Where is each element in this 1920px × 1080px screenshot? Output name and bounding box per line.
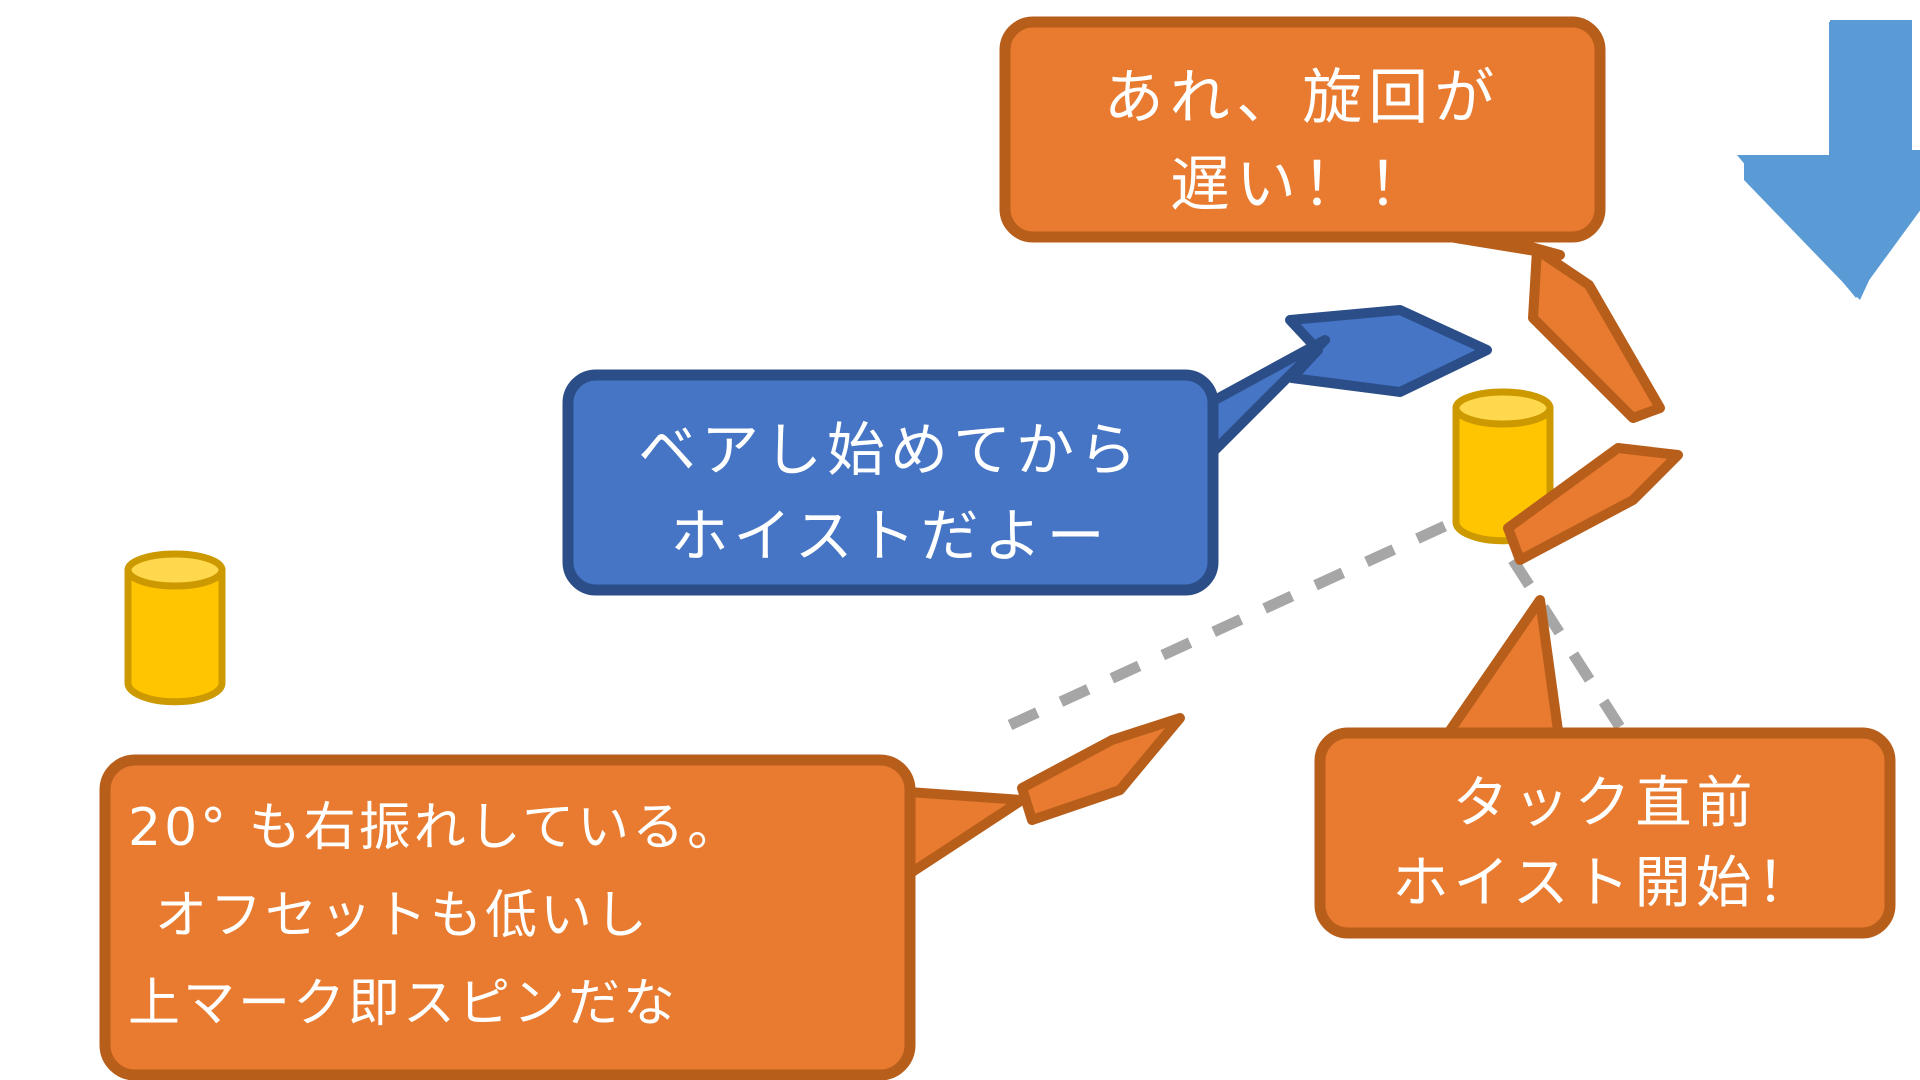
bubble-turn-slow-line-2: 遅い！！ [1170,150,1434,220]
wind-direction-arrow [1737,20,1920,300]
bubble-bear-hoist[interactable]: ベアし始めてから ホイストだよー [568,340,1325,590]
bubble-turn-slow[interactable]: あれ、旋回が 遅い！！ [1005,22,1600,255]
orange-boat-lower-left [1022,718,1180,820]
bubble-turn-slow-line-1: あれ、旋回が [1104,63,1501,133]
bubble-right-swing-line-1: 20° も右振れしている。 [128,798,742,858]
bubble-tack-hoist-line-2: ホイスト開始！ [1392,851,1817,916]
bubble-tack-hoist-line-1: タック直前 [1453,771,1758,836]
sailing-tactics-annotation-canvas: あれ、旋回が 遅い！！ ベアし始めてから ホイストだよー タック直前 ホイスト開… [0,0,1920,1080]
bubble-right-swing-line-2: オフセットも低いし [155,886,650,946]
scene-graphics: あれ、旋回が 遅い！！ ベアし始めてから ホイストだよー タック直前 ホイスト開… [0,0,1920,1080]
bubble-bear-hoist-line-1: ベアし始めてから [638,416,1142,484]
mark-buoy-left [128,554,222,702]
bubble-tack-hoist[interactable]: タック直前 ホイスト開始！ [1320,600,1890,933]
bubble-right-swing-line-3: 上マーク即スピンだな [128,974,678,1034]
orange-boat-top-right [1533,250,1660,418]
bubble-right-swing[interactable]: 20° も右振れしている。 オフセットも低いし 上マーク即スピンだな [105,760,1022,1075]
bubble-bear-hoist-line-2: ホイストだよー [670,502,1109,570]
